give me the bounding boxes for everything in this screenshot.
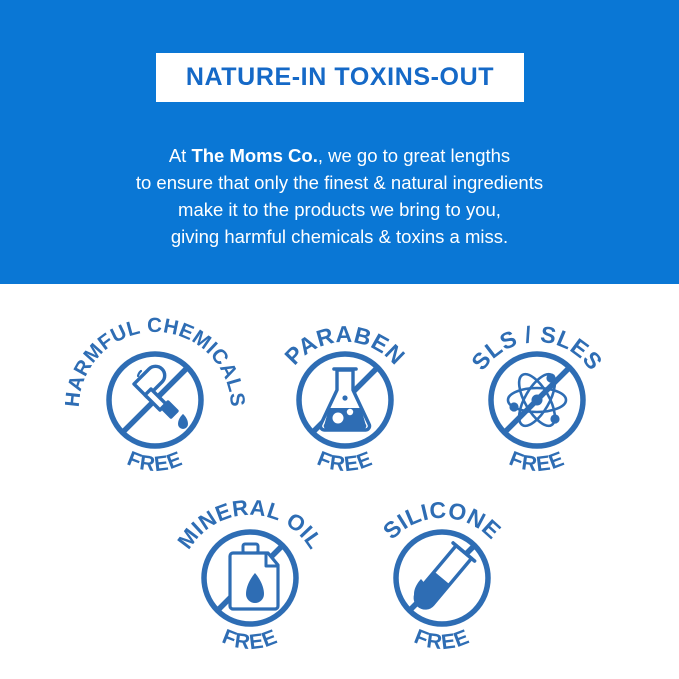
promo-graphic: NATURE-IN TOXINS-OUT At The Moms Co., we… — [0, 0, 679, 679]
badge-mineral-oil-free: MINERAL OIL FREE — [160, 486, 340, 666]
badge-sls-sles-free: SLS / SLES FREE — [447, 308, 627, 488]
title-banner: NATURE-IN TOXINS-OUT — [156, 53, 524, 102]
page-title: NATURE-IN TOXINS-OUT — [186, 65, 494, 90]
paragraph-line-2: to ensure that only the finest & natural… — [0, 169, 679, 196]
flask-icon — [320, 369, 369, 430]
badge-grid: HARMFUL CHEMICALS FREE — [0, 284, 679, 679]
badge-bottom-label: FREE — [411, 625, 473, 654]
brand-name: The Moms Co. — [191, 145, 317, 166]
test-tube-icon — [408, 543, 474, 615]
hero-section: NATURE-IN TOXINS-OUT At The Moms Co., we… — [0, 0, 679, 284]
paragraph-line1-prefix: At — [169, 145, 192, 166]
paragraph-line1-suffix: , we go to great lengths — [318, 145, 510, 166]
badge-bottom-label: FREE — [219, 625, 281, 654]
badge-harmful-chemicals-free: HARMFUL CHEMICALS FREE — [65, 308, 245, 488]
paragraph-line-4: giving harmful chemicals & toxins a miss… — [0, 223, 679, 250]
droplet-icon — [178, 414, 188, 429]
badge-paraben-free: PARABEN FREE — [255, 308, 435, 488]
badge-bottom-label: FREE — [506, 447, 568, 476]
dropper-icon — [134, 366, 177, 417]
paragraph-line-3: make it to the products we bring to you, — [0, 196, 679, 223]
paragraph-line-1: At The Moms Co., we go to great lengths — [0, 142, 679, 169]
badge-bottom-label: FREE — [314, 447, 376, 476]
badge-top-label: SLS / SLES — [466, 321, 608, 375]
hero-paragraph: At The Moms Co., we go to great lengths … — [0, 142, 679, 250]
badge-bottom-label: FREE — [124, 447, 186, 476]
badge-silicone-free: SILICONE FREE — [352, 486, 532, 666]
badge-top-label: PARABEN — [279, 321, 410, 370]
badge-top-label: SILICONE — [378, 497, 506, 544]
